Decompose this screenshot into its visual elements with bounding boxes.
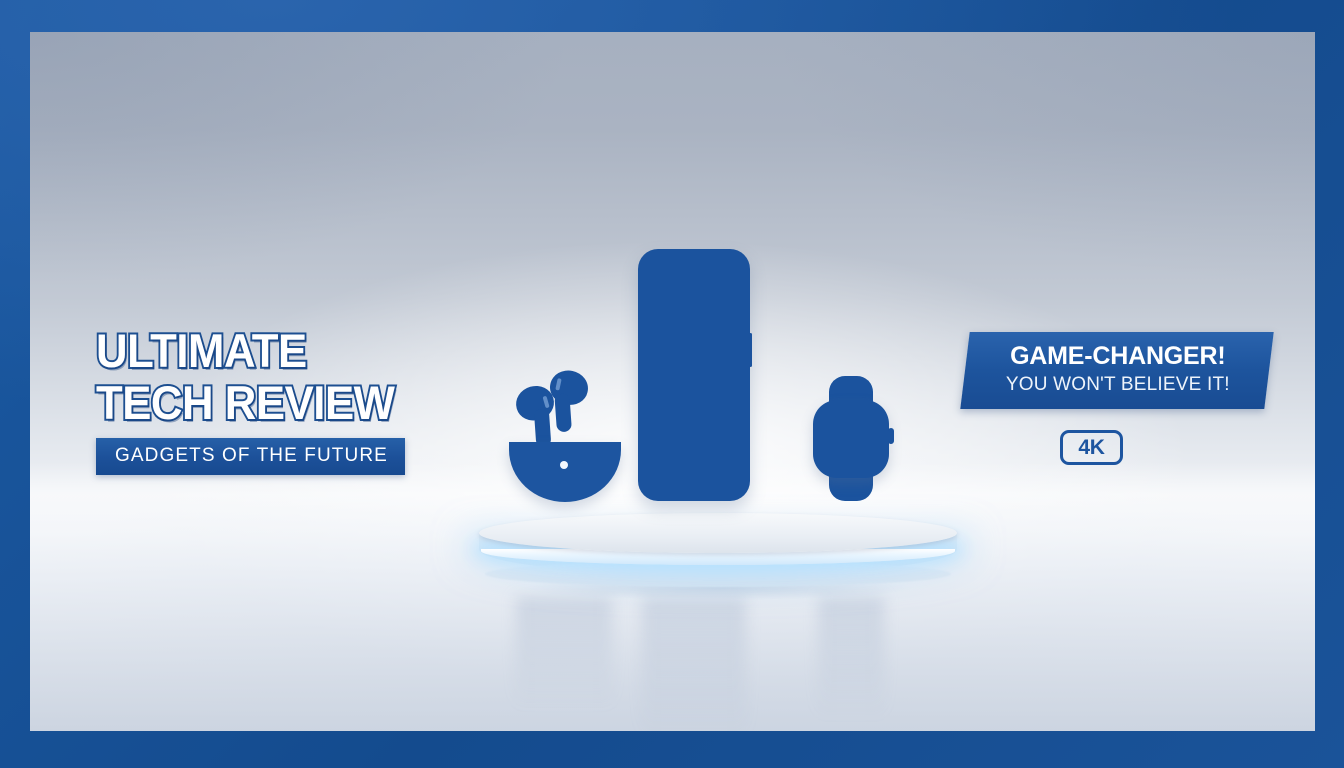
thumbnail-root: ULTIMATE TECH REVIEW GADGETS OF THE FUTU… [0,0,1344,768]
headline-line-2: TECH REVIEW [96,380,487,425]
promo-subtext: YOU WON'T BELIEVE IT! [966,374,1270,396]
promo-banner-content: GAME-CHANGER! YOU WON'T BELIEVE IT! [966,332,1270,396]
smartphone-side-button [749,333,752,367]
quality-badge: 4K [1060,430,1123,465]
headline-line-1: ULTIMATE [96,328,487,373]
smartwatch-crown [888,428,894,444]
scene-canvas: ULTIMATE TECH REVIEW GADGETS OF THE FUTU… [30,32,1315,731]
subtitle-text: GADGETS OF THE FUTURE [115,445,388,466]
earbud-right-stem [554,393,572,432]
headline-block: ULTIMATE TECH REVIEW GADGETS OF THE FUTU… [96,328,516,475]
subtitle-banner: GADGETS OF THE FUTURE [96,438,405,475]
smartwatch-body [813,400,889,478]
smartphone-icon [638,249,750,501]
earbuds-with-case-icon [506,365,624,502]
smartwatch-icon [813,376,889,501]
promo-block: GAME-CHANGER! YOU WON'T BELIEVE IT! 4K [965,332,1295,409]
promo-headline: GAME-CHANGER! [966,342,1270,371]
quality-badge-text: 4K [1078,436,1104,460]
charging-led-indicator [560,461,568,469]
promo-banner: GAME-CHANGER! YOU WON'T BELIEVE IT! [960,332,1273,409]
smartphone-body [638,249,750,501]
earbuds-charging-case [509,442,621,502]
